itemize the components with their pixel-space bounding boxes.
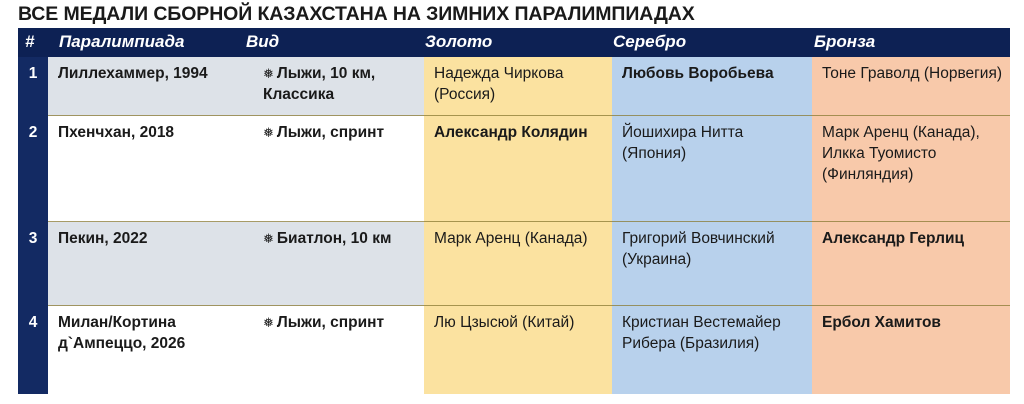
medals-table-page: ВСЕ МЕДАЛИ СБОРНОЙ КАЗАХСТАНА НА ЗИМНИХ … bbox=[0, 0, 1024, 404]
medals-table: # Паралимпиада Вид Золото Серебро Бронза… bbox=[18, 28, 1010, 394]
cell-silver: Йошихира Нитта (Япония) bbox=[612, 116, 812, 222]
snowflake-icon: ❅ bbox=[263, 66, 274, 81]
table-row: 1 Лиллехаммер, 1994 ❅Лыжи, 10 км, Класси… bbox=[18, 57, 1010, 116]
cell-paralympiad: Милан/Кортина д`Ампеццо, 2026 bbox=[48, 306, 243, 394]
column-header-bronze: Бронза bbox=[814, 28, 994, 57]
table-row: 4 Милан/Кортина д`Ампеццо, 2026 ❅Лыжи, с… bbox=[18, 306, 1010, 394]
cell-sport-label: Лыжи, спринт bbox=[277, 314, 384, 331]
cell-sport-label: Биатлон, 10 км bbox=[277, 230, 392, 247]
cell-silver: Григорий Вовчинский (Украина) bbox=[612, 222, 812, 306]
cell-number: 1 bbox=[18, 57, 48, 116]
table-row: 3 Пекин, 2022 ❅Биатлон, 10 км Марк Аренц… bbox=[18, 222, 1010, 306]
cell-silver: Любовь Воробьева bbox=[612, 57, 812, 116]
cell-sport: ❅Лыжи, спринт bbox=[243, 306, 424, 394]
cell-gold: Александр Колядин bbox=[424, 116, 612, 222]
snowflake-icon: ❅ bbox=[263, 125, 274, 140]
snowflake-icon: ❅ bbox=[263, 315, 274, 330]
cell-silver: Кристиан Вестемайер Рибера (Бразилия) bbox=[612, 306, 812, 394]
table-header-row: # Паралимпиада Вид Золото Серебро Бронза bbox=[18, 28, 1010, 57]
cell-number: 3 bbox=[18, 222, 48, 306]
column-header-silver: Серебро bbox=[613, 28, 793, 57]
column-header-sport: Вид bbox=[246, 28, 416, 57]
table-row: 2 Пхенчхан, 2018 ❅Лыжи, спринт Александр… bbox=[18, 116, 1010, 222]
cell-paralympiad: Пекин, 2022 bbox=[48, 222, 243, 306]
cell-gold: Лю Цзысюй (Китай) bbox=[424, 306, 612, 394]
cell-paralympiad: Пхенчхан, 2018 bbox=[48, 116, 243, 222]
cell-bronze: Тоне Граволд (Норвегия) bbox=[812, 57, 1010, 116]
cell-sport-label: Лыжи, спринт bbox=[277, 124, 384, 141]
cell-sport: ❅Биатлон, 10 км bbox=[243, 222, 424, 306]
cell-bronze: Александр Герлиц bbox=[812, 222, 1010, 306]
cell-paralympiad: Лиллехаммер, 1994 bbox=[48, 57, 243, 116]
column-header-number: # bbox=[25, 28, 51, 57]
cell-number: 2 bbox=[18, 116, 48, 222]
cell-gold: Марк Аренц (Канада) bbox=[424, 222, 612, 306]
cell-number: 4 bbox=[18, 306, 48, 394]
cell-bronze: Ербол Хамитов bbox=[812, 306, 1010, 394]
column-header-paralympiad: Паралимпиада bbox=[59, 28, 239, 57]
snowflake-icon: ❅ bbox=[263, 231, 274, 246]
cell-bronze: Марк Аренц (Канада), Илкка Туомисто (Фин… bbox=[812, 116, 1010, 222]
cell-sport-label: Лыжи, 10 км, Классика bbox=[263, 65, 375, 103]
cell-sport: ❅Лыжи, 10 км, Классика bbox=[243, 57, 424, 116]
column-header-gold: Золото bbox=[425, 28, 605, 57]
cell-gold: Надежда Чиркова (Россия) bbox=[424, 57, 612, 116]
cell-sport: ❅Лыжи, спринт bbox=[243, 116, 424, 222]
page-title: ВСЕ МЕДАЛИ СБОРНОЙ КАЗАХСТАНА НА ЗИМНИХ … bbox=[18, 1, 1008, 28]
